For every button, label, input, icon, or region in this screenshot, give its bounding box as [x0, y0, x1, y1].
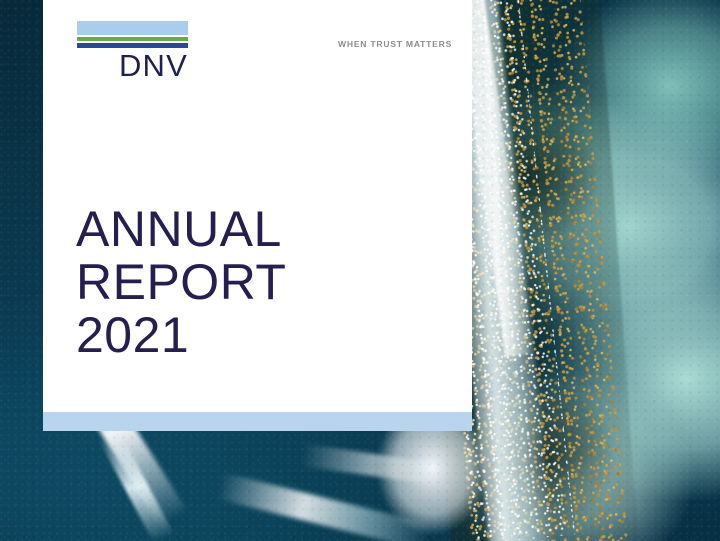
logo-wordmark: DNV [77, 50, 188, 81]
logo-bar-light-blue-icon [77, 21, 188, 35]
report-cover: DNV WHEN TRUST MATTERS ANNUAL REPORT 202… [0, 0, 720, 541]
dnv-logo: DNV [77, 21, 188, 81]
page-title: ANNUAL REPORT 2021 [76, 203, 286, 362]
accent-bar [43, 412, 472, 431]
brand-tagline: WHEN TRUST MATTERS [338, 39, 452, 49]
logo-bar-green-icon [77, 37, 188, 41]
